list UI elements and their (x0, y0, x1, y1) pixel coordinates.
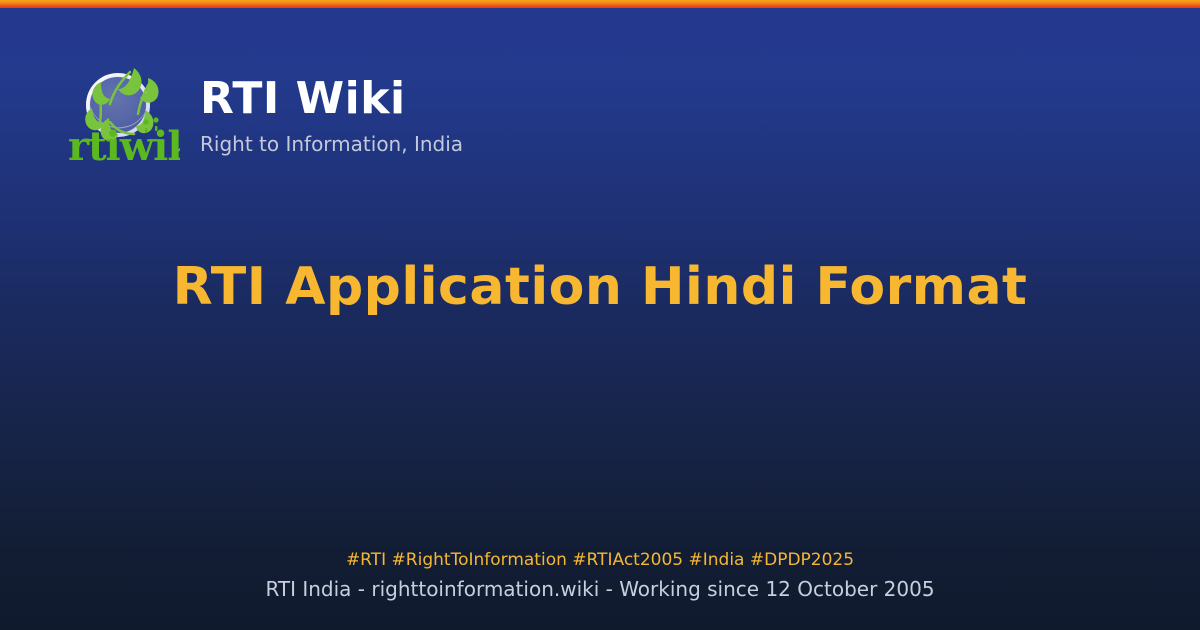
card-footer: #RTI #RightToInformation #RTIAct2005 #In… (0, 549, 1200, 602)
top-accent-bar (0, 0, 1200, 8)
site-header: rtiwiki RTI Wiki Right to Information, I… (60, 60, 463, 170)
brand-text-block: RTI Wiki Right to Information, India (200, 60, 463, 156)
social-share-card: rtiwiki RTI Wiki Right to Information, I… (0, 0, 1200, 630)
credit-line: RTI India - righttoinformation.wiki - Wo… (0, 576, 1200, 602)
brand-subtitle: Right to Information, India (200, 132, 463, 156)
rtiwiki-logo[interactable]: rtiwiki (60, 60, 180, 170)
svg-text:rtiwiki: rtiwiki (68, 123, 180, 170)
brand-title: RTI Wiki (200, 76, 463, 122)
logo-wordmark-icon: rtiwiki (68, 117, 180, 170)
page-title: RTI Application Hindi Format (0, 258, 1200, 318)
hashtags-line: #RTI #RightToInformation #RTIAct2005 #In… (0, 549, 1200, 571)
